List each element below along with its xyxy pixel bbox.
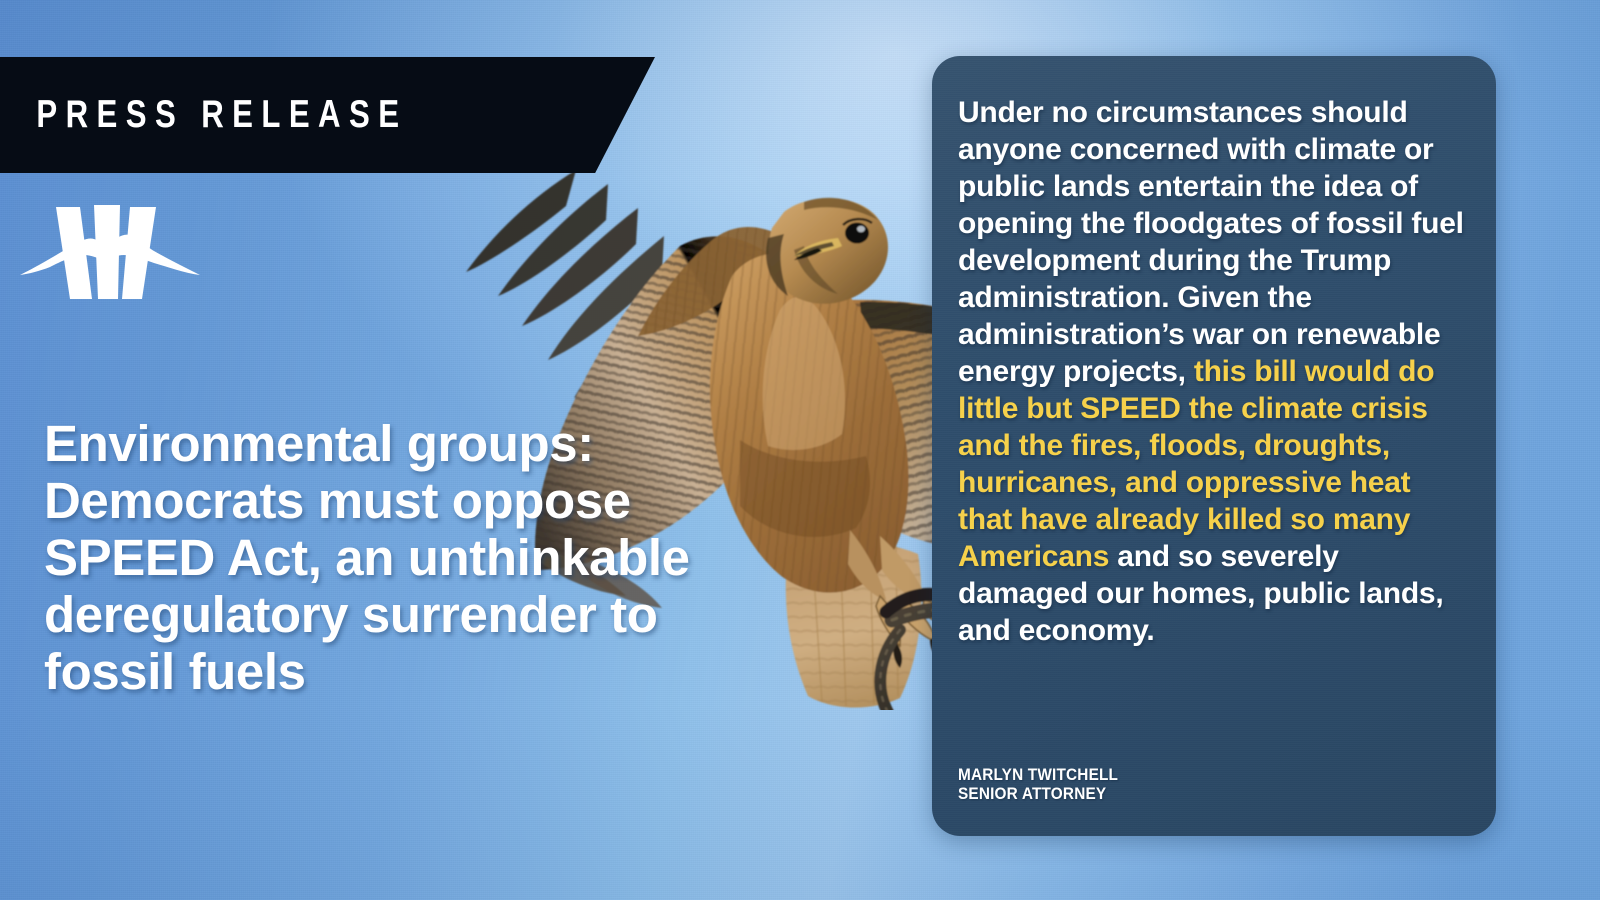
quote-panel: Under no circumstances should anyone con… [932,56,1496,836]
quote-attribution: MARLYN TWITCHELL SENIOR ATTORNEY [958,766,1118,804]
press-release-label: PRESS RELEASE [0,93,407,137]
press-release-banner: PRESS RELEASE [0,57,655,173]
page-title: Environmental groups: Democrats must opp… [44,415,784,700]
quote-part-1: Under no circumstances should anyone con… [958,96,1464,388]
organization-logo [18,193,202,305]
press-release-graphic: PRESS RELEASE Environmental groups: Demo… [0,0,1600,900]
quote-text: Under no circumstances should anyone con… [958,94,1466,649]
attribution-name: MARLYN TWITCHELL [958,766,1118,785]
attribution-title: SENIOR ATTORNEY [958,785,1118,804]
